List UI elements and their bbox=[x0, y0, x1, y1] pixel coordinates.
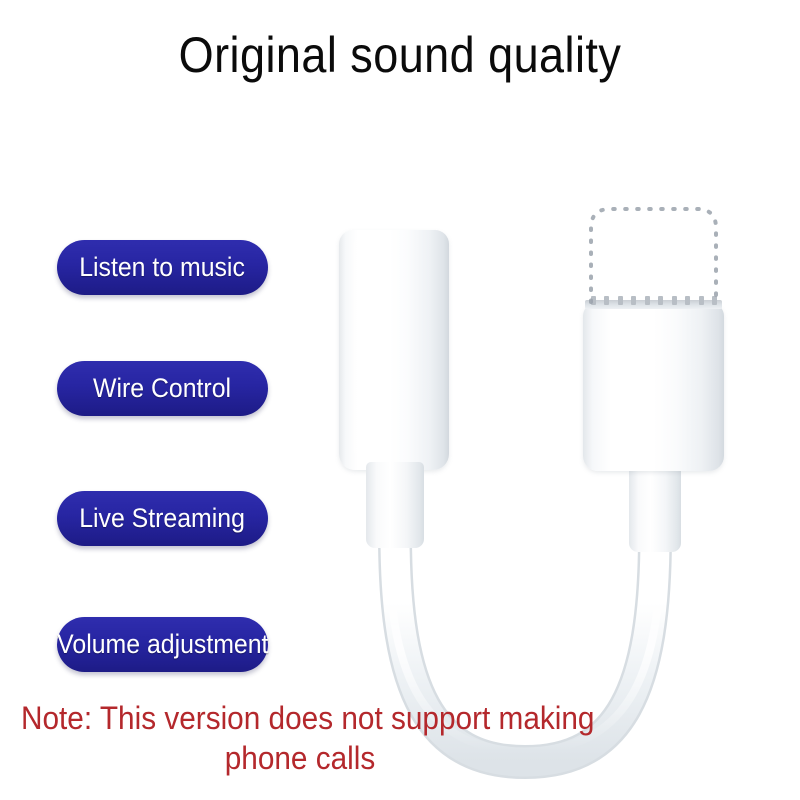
feature-badge-label: Wire Control bbox=[93, 374, 231, 403]
lightning-contact-band bbox=[585, 300, 722, 309]
feature-badge-wire-control[interactable]: Wire Control bbox=[57, 361, 268, 416]
disclaimer-note-line-2: phone calls bbox=[21, 738, 579, 778]
feature-badge-label: Volume adjustment bbox=[57, 630, 268, 659]
feature-badge-label: Live Streaming bbox=[80, 504, 246, 533]
feature-badge-live-streaming[interactable]: Live Streaming bbox=[57, 491, 268, 546]
disclaimer-note: Note: This version does not support maki… bbox=[21, 698, 579, 778]
headphone-jack-gloss bbox=[352, 240, 366, 455]
lightning-strain-relief bbox=[629, 464, 681, 552]
headphone-jack-barrel bbox=[339, 230, 449, 470]
lightning-contact-pins bbox=[591, 296, 717, 305]
disclaimer-note-line-1: Note: This version does not support maki… bbox=[21, 698, 579, 738]
page-title: Original sound quality bbox=[40, 26, 760, 84]
feature-badge-volume-adjustment[interactable]: Volume adjustment bbox=[57, 617, 268, 672]
product-marketing-image: Original sound quality Listen to music W… bbox=[0, 0, 800, 800]
lightning-connector-body bbox=[583, 303, 724, 471]
feature-badge-label: Listen to music bbox=[80, 253, 246, 282]
feature-badge-listen-to-music[interactable]: Listen to music bbox=[57, 240, 268, 295]
headphone-jack-strain-relief bbox=[366, 462, 424, 548]
